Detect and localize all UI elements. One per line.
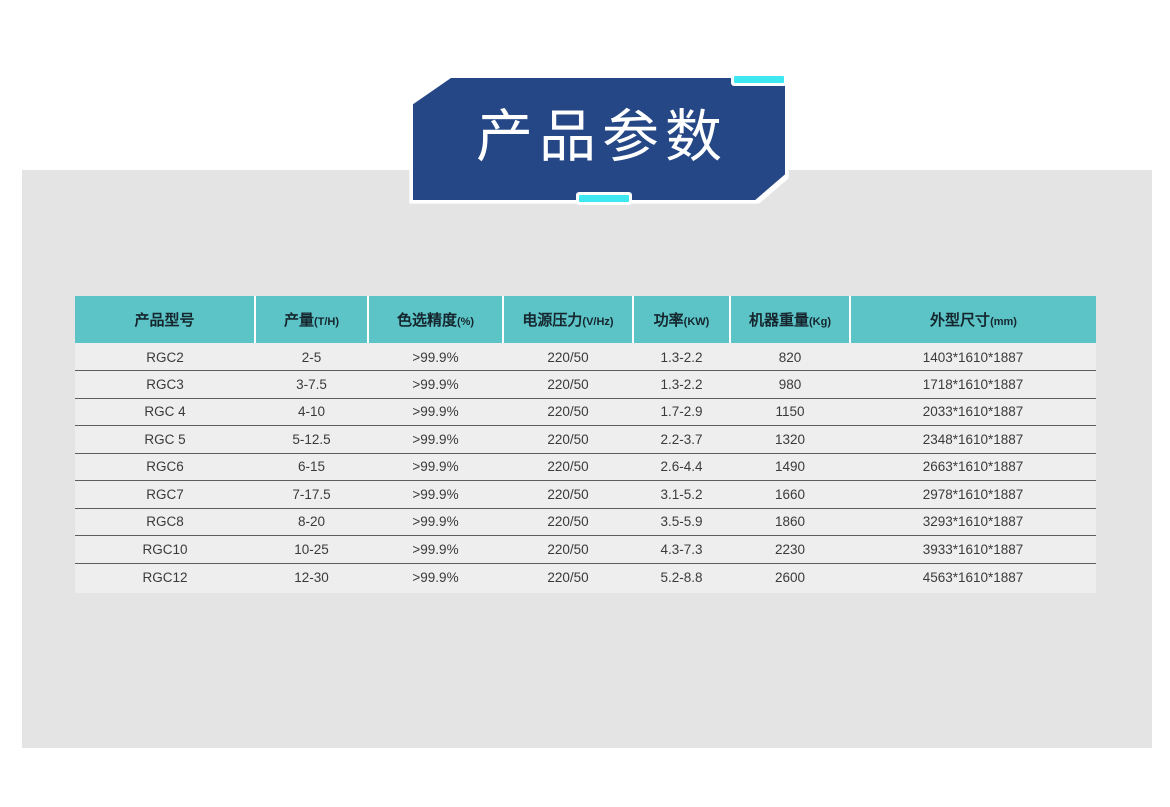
- product-parameters-table: 产品型号产量(T/H)色选精度(%)电源压力(V/Hz)功率(KW)机器重量(K…: [75, 296, 1096, 591]
- table-cell: 820: [730, 343, 850, 371]
- table-cell: 2348*1610*1887: [850, 426, 1096, 454]
- table-cell: 1.3-2.2: [633, 343, 730, 371]
- table-cell: 3.5-5.9: [633, 508, 730, 536]
- table-cell: 220/50: [503, 481, 633, 509]
- page-root: 产品参数 产品型号产量(T/H)色选精度(%)电源压力(V/Hz)功率(KW)机…: [0, 0, 1170, 807]
- table-cell: 220/50: [503, 536, 633, 564]
- table-cell: 1.3-2.2: [633, 371, 730, 399]
- column-header-unit: (mm): [990, 316, 1017, 328]
- table-cell: 2.6-4.4: [633, 453, 730, 481]
- title-banner: 产品参数: [409, 74, 789, 204]
- column-header-6: 机器重量(Kg): [730, 296, 850, 343]
- table-cell: 980: [730, 371, 850, 399]
- column-header-unit: (V/Hz): [582, 316, 613, 328]
- table-cell: RGC2: [75, 343, 255, 371]
- table-cell: 4563*1610*1887: [850, 563, 1096, 591]
- table-row: RGC 55-12.5>99.9%220/502.2-3.713202348*1…: [75, 426, 1096, 454]
- table-cell: 3.1-5.2: [633, 481, 730, 509]
- table-cell: 2663*1610*1887: [850, 453, 1096, 481]
- column-header-label: 产品型号: [134, 312, 194, 329]
- table-cell: >99.9%: [368, 426, 503, 454]
- table-cell: >99.9%: [368, 371, 503, 399]
- table-row: RGC88-20>99.9%220/503.5-5.918603293*1610…: [75, 508, 1096, 536]
- table-cell: 2230: [730, 536, 850, 564]
- table-cell: 2033*1610*1887: [850, 398, 1096, 426]
- table-row: RGC 44-10>99.9%220/501.7-2.911502033*161…: [75, 398, 1096, 426]
- column-header-label: 电源压力: [522, 312, 582, 329]
- table-cell: >99.9%: [368, 563, 503, 591]
- table-cell: 2978*1610*1887: [850, 481, 1096, 509]
- column-header-unit: (%): [457, 316, 474, 328]
- table-row: RGC66-15>99.9%220/502.6-4.414902663*1610…: [75, 453, 1096, 481]
- table-cell: RGC8: [75, 508, 255, 536]
- table-cell: >99.9%: [368, 398, 503, 426]
- column-header-label: 外型尺寸: [930, 312, 990, 329]
- table-cell: 4-10: [255, 398, 368, 426]
- accent-bar-top-right-icon: [734, 76, 784, 83]
- column-header-label: 产量: [284, 312, 314, 329]
- table-cell: RGC 5: [75, 426, 255, 454]
- table-cell: 6-15: [255, 453, 368, 481]
- table-cell: 8-20: [255, 508, 368, 536]
- table-cell: 4.3-7.3: [633, 536, 730, 564]
- table-cell: RGC10: [75, 536, 255, 564]
- table-cell: >99.9%: [368, 508, 503, 536]
- accent-bar-bottom-center-icon: [579, 195, 629, 202]
- table-header-row: 产品型号产量(T/H)色选精度(%)电源压力(V/Hz)功率(KW)机器重量(K…: [75, 296, 1096, 343]
- table-body: RGC22-5>99.9%220/501.3-2.28201403*1610*1…: [75, 343, 1096, 591]
- table-cell: 1490: [730, 453, 850, 481]
- table-cell: 220/50: [503, 508, 633, 536]
- column-header-label: 机器重量: [749, 312, 809, 329]
- table-cell: 220/50: [503, 398, 633, 426]
- table-cell: 3-7.5: [255, 371, 368, 399]
- table-cell: 220/50: [503, 563, 633, 591]
- table-row: RGC22-5>99.9%220/501.3-2.28201403*1610*1…: [75, 343, 1096, 371]
- table-cell: >99.9%: [368, 453, 503, 481]
- column-header-label: 功率: [654, 312, 684, 329]
- table-cell: 1150: [730, 398, 850, 426]
- table-cell: 220/50: [503, 371, 633, 399]
- table-cell: >99.9%: [368, 343, 503, 371]
- banner-shape: 产品参数: [413, 78, 785, 200]
- table-cell: 10-25: [255, 536, 368, 564]
- table-cell: 3293*1610*1887: [850, 508, 1096, 536]
- column-header-7: 外型尺寸(mm): [850, 296, 1096, 343]
- table-cell: 220/50: [503, 453, 633, 481]
- column-header-label: 色选精度: [397, 312, 457, 329]
- table-cell: 12-30: [255, 563, 368, 591]
- table-cell: 7-17.5: [255, 481, 368, 509]
- table-cell: 220/50: [503, 343, 633, 371]
- table-cell: 220/50: [503, 426, 633, 454]
- table-cell: 5-12.5: [255, 426, 368, 454]
- table-cell: 5.2-8.8: [633, 563, 730, 591]
- table-cell: >99.9%: [368, 536, 503, 564]
- table-cell: 2600: [730, 563, 850, 591]
- column-header-5: 功率(KW): [633, 296, 730, 343]
- column-header-unit: (Kg): [809, 316, 831, 328]
- table-cell: 1718*1610*1887: [850, 371, 1096, 399]
- table-cell: 3933*1610*1887: [850, 536, 1096, 564]
- table-footer-strip: [75, 588, 1096, 593]
- table-cell: >99.9%: [368, 481, 503, 509]
- table-row: RGC77-17.5>99.9%220/503.1-5.216602978*16…: [75, 481, 1096, 509]
- column-header-unit: (T/H): [314, 316, 339, 328]
- table-header: 产品型号产量(T/H)色选精度(%)电源压力(V/Hz)功率(KW)机器重量(K…: [75, 296, 1096, 343]
- column-header-1: 产品型号: [75, 296, 255, 343]
- table-row: RGC1010-25>99.9%220/504.3-7.322303933*16…: [75, 536, 1096, 564]
- table-row: RGC33-7.5>99.9%220/501.3-2.29801718*1610…: [75, 371, 1096, 399]
- table-cell: 2-5: [255, 343, 368, 371]
- table-cell: 1860: [730, 508, 850, 536]
- table-cell: 1.7-2.9: [633, 398, 730, 426]
- column-header-3: 色选精度(%): [368, 296, 503, 343]
- table-cell: 1403*1610*1887: [850, 343, 1096, 371]
- table-cell: RGC12: [75, 563, 255, 591]
- table-cell: RGC3: [75, 371, 255, 399]
- column-header-2: 产量(T/H): [255, 296, 368, 343]
- table-cell: RGC 4: [75, 398, 255, 426]
- table-row: RGC1212-30>99.9%220/505.2-8.826004563*16…: [75, 563, 1096, 591]
- table-cell: RGC6: [75, 453, 255, 481]
- column-header-unit: (KW): [684, 316, 710, 328]
- table-cell: 1320: [730, 426, 850, 454]
- table-cell: RGC7: [75, 481, 255, 509]
- table-cell: 2.2-3.7: [633, 426, 730, 454]
- page-title: 产品参数: [470, 109, 728, 170]
- table-cell: 1660: [730, 481, 850, 509]
- column-header-4: 电源压力(V/Hz): [503, 296, 633, 343]
